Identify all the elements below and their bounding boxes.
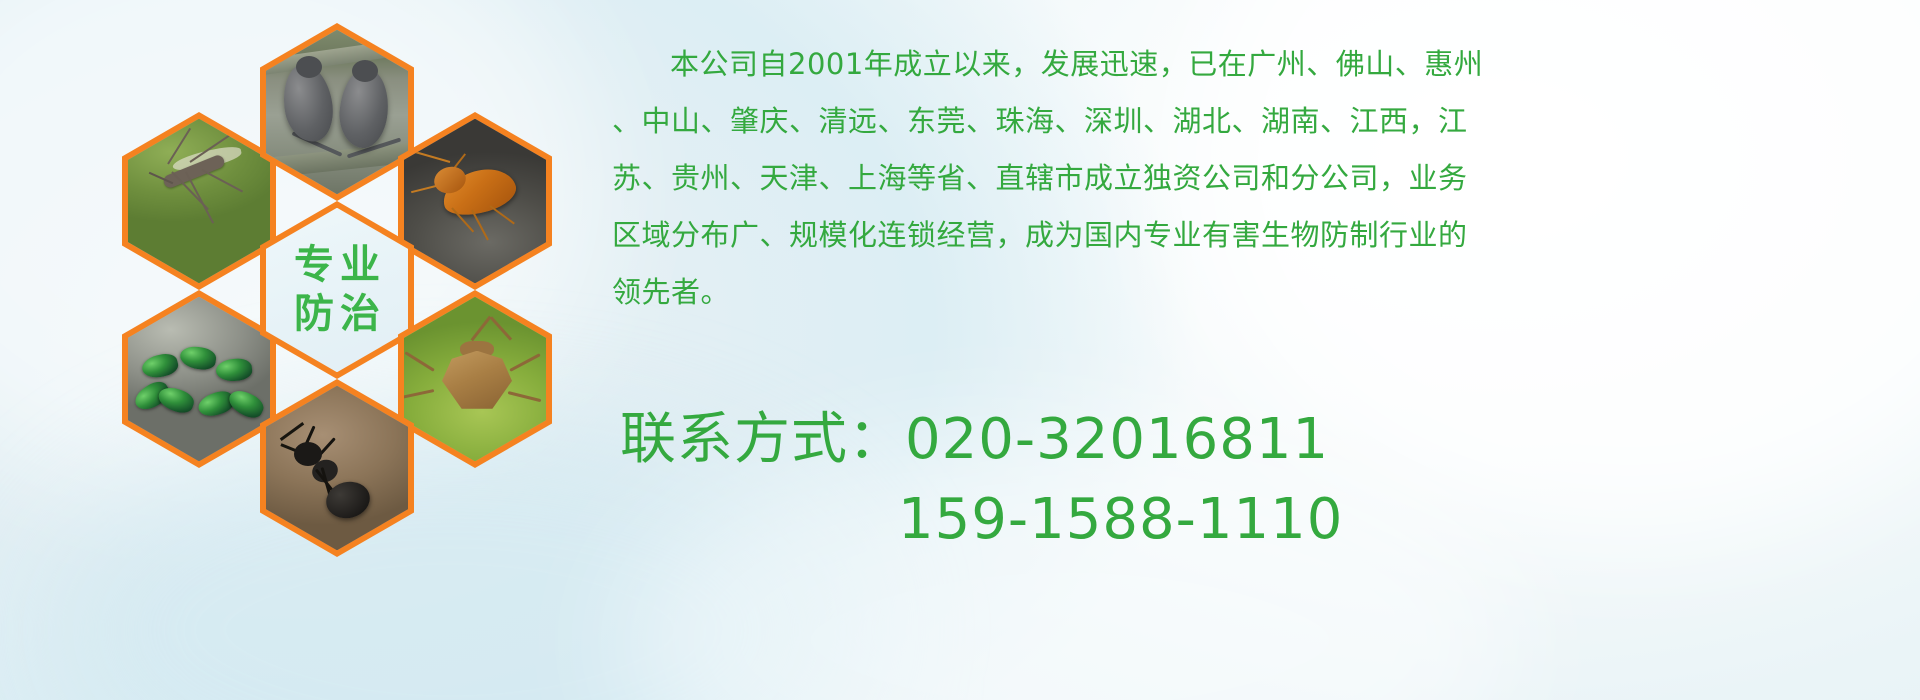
slogan-line-2: 防治	[288, 290, 386, 339]
slogan-line-1: 专业	[288, 241, 386, 290]
description-line-5: 领先者。	[612, 264, 1542, 321]
hex-cell-mosquito[interactable]	[122, 112, 276, 290]
hex-inner-slogan: 专业 防治	[266, 208, 408, 373]
rats-photo	[266, 30, 408, 195]
hex-cell-rats[interactable]	[260, 23, 414, 201]
honeycomb-gallery: 专业 防治	[88, 8, 588, 568]
hex-inner-rats	[266, 30, 408, 195]
contact-primary-line: 联系方式：020-32016811	[620, 400, 1620, 480]
contact-label: 联系方式：	[620, 407, 905, 472]
company-description: 本公司自2001年成立以来，发展迅速，已在广州、佛山、惠州 、中山、肇庆、清远、…	[612, 36, 1542, 321]
cockroach-photo	[404, 119, 546, 284]
hex-cell-cockroach[interactable]	[398, 112, 552, 290]
banner-root: 专业 防治	[0, 0, 1920, 700]
mosquito-photo	[128, 119, 270, 284]
flies-photo	[128, 297, 270, 462]
hex-inner-flies	[128, 297, 270, 462]
hex-cell-ant[interactable]	[260, 379, 414, 557]
description-line-2: 、中山、肇庆、清远、东莞、珠海、深圳、湖北、湖南、江西，江	[612, 93, 1542, 150]
hex-inner-stink-bug	[404, 297, 546, 462]
description-line-4: 区域分布广、规模化连锁经营，成为国内专业有害生物防制行业的	[612, 207, 1542, 264]
description-line-3: 苏、贵州、天津、上海等省、直辖市成立独资公司和分公司，业务	[612, 150, 1542, 207]
ant-photo	[266, 386, 408, 551]
hex-cell-flies[interactable]	[122, 290, 276, 468]
phone-secondary[interactable]: 159-1588-1110	[898, 487, 1343, 552]
contact-secondary-line: 159-1588-1110	[620, 480, 1620, 560]
description-line-1: 本公司自2001年成立以来，发展迅速，已在广州、佛山、惠州	[612, 36, 1542, 93]
contact-block: 联系方式：020-32016811 159-1588-1110	[620, 400, 1620, 560]
stink-bug-photo	[404, 297, 546, 462]
hex-cell-slogan: 专业 防治	[260, 201, 414, 379]
slogan-text: 专业 防治	[266, 208, 408, 373]
hex-inner-cockroach	[404, 119, 546, 284]
hex-cell-stink-bug[interactable]	[398, 290, 552, 468]
hex-inner-mosquito	[128, 119, 270, 284]
hex-inner-ant	[266, 386, 408, 551]
phone-primary[interactable]: 020-32016811	[905, 407, 1329, 472]
